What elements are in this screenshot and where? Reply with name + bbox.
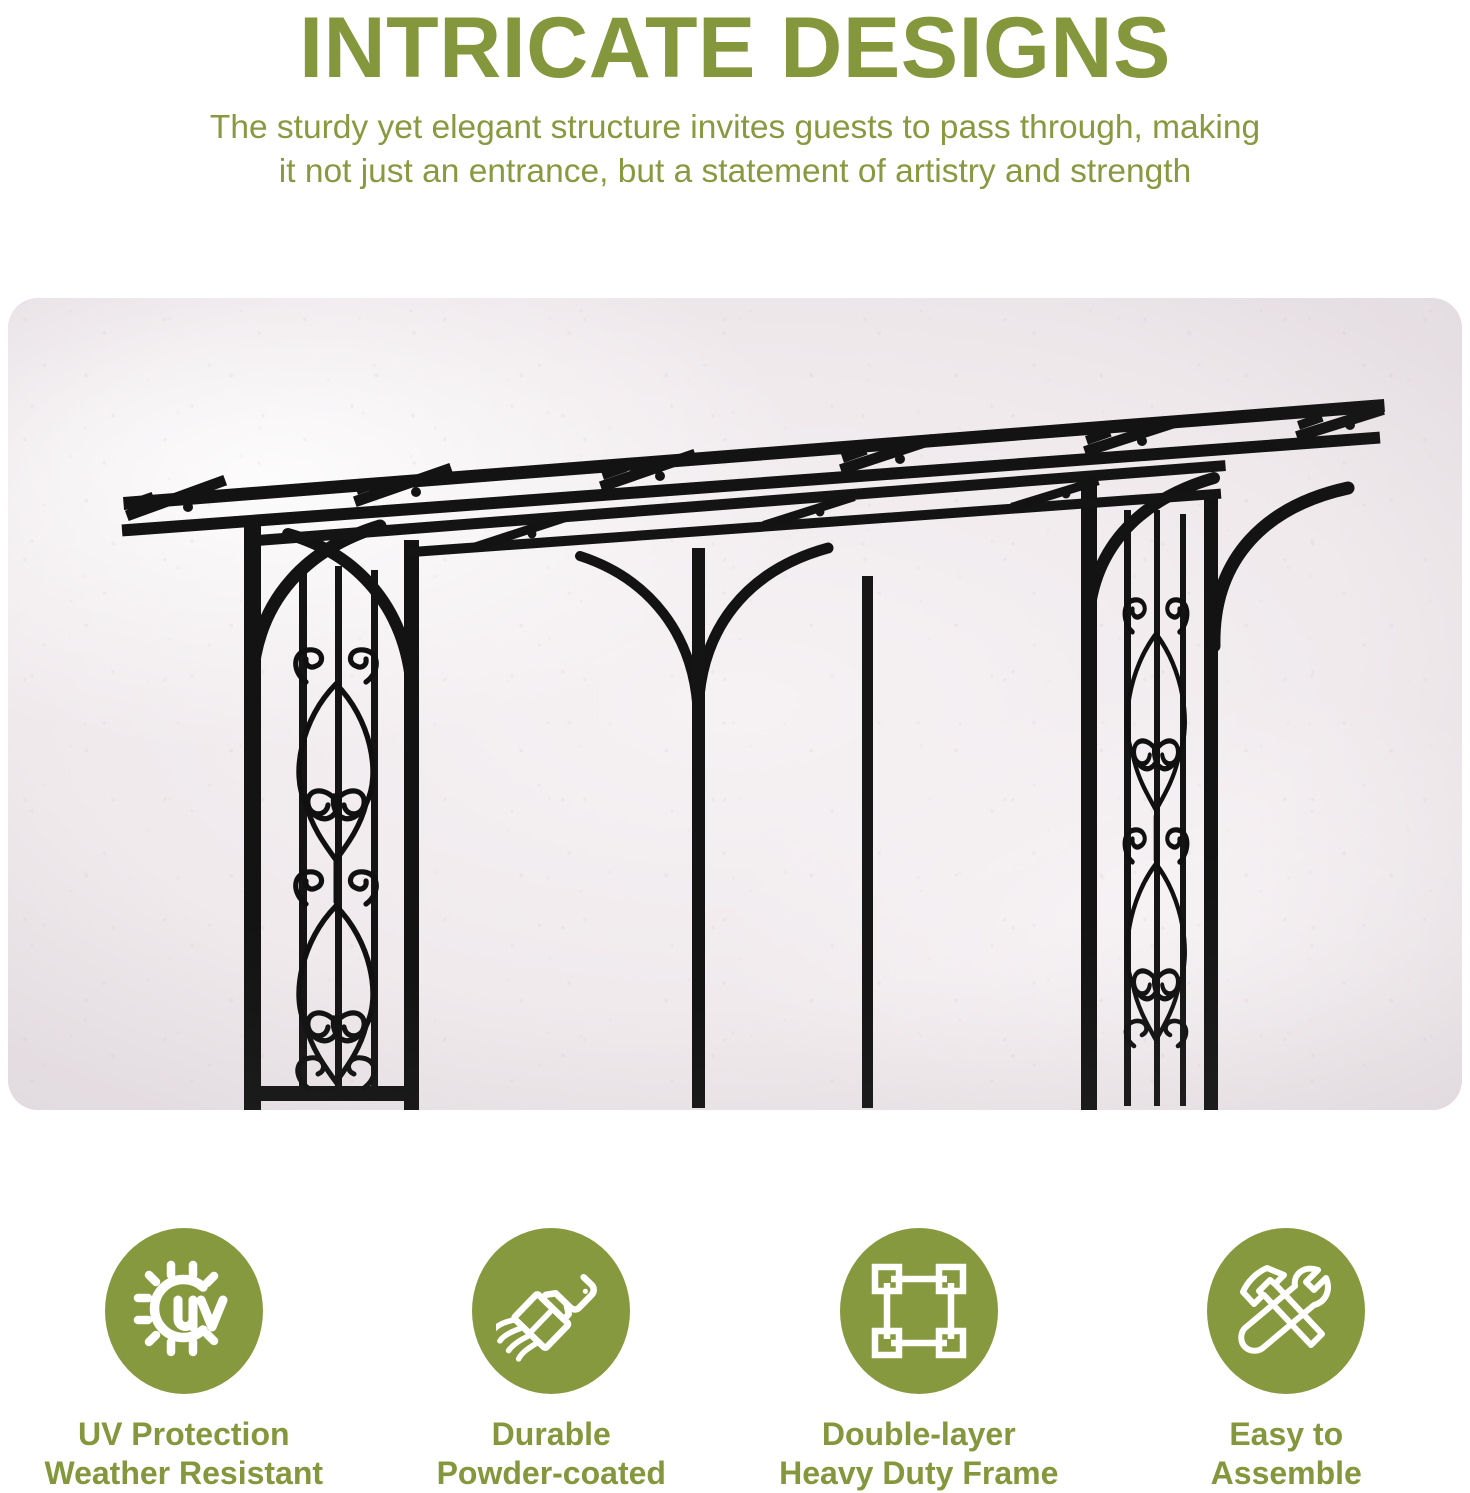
- frame-corners-badge: [840, 1228, 998, 1394]
- feature-item: Double-layer Heavy Duty Frame: [749, 1228, 1089, 1493]
- feature-label-line-1: Double-layer: [779, 1415, 1058, 1454]
- uv-sun-icon: [129, 1256, 239, 1366]
- feature-label: Double-layer Heavy Duty Frame: [779, 1415, 1058, 1493]
- header-block: INTRICATE DESIGNS The sturdy yet elegant…: [0, 0, 1470, 195]
- feature-label-line-1: Durable: [437, 1415, 666, 1454]
- frame-corners-icon: [865, 1257, 973, 1365]
- feature-item: UV Protection Weather Resistant: [14, 1228, 354, 1493]
- feature-label: Easy to Assemble: [1211, 1415, 1362, 1493]
- subtitle-line-2: it not just an entrance, but a statement…: [70, 150, 1400, 194]
- page-title: INTRICATE DESIGNS: [0, 6, 1470, 90]
- feature-item: Easy to Assemble: [1116, 1228, 1456, 1493]
- feature-label-line-2: Powder-coated: [437, 1454, 666, 1493]
- uv-sun-badge: [105, 1228, 263, 1394]
- feature-label: UV Protection Weather Resistant: [44, 1415, 323, 1493]
- feature-item: Durable Powder-coated: [381, 1228, 721, 1493]
- product-photo: [8, 298, 1462, 1110]
- feature-label-line-2: Assemble: [1211, 1454, 1362, 1493]
- feature-label: Durable Powder-coated: [437, 1415, 666, 1493]
- hammer-wrench-badge: [1207, 1228, 1365, 1394]
- paintbrush-badge: [472, 1228, 630, 1394]
- page-subtitle: The sturdy yet elegant structure invites…: [50, 106, 1420, 194]
- feature-label-line-1: UV Protection: [44, 1415, 323, 1454]
- subtitle-line-1: The sturdy yet elegant structure invites…: [70, 106, 1400, 150]
- hammer-wrench-icon: [1230, 1255, 1342, 1367]
- feature-label-line-1: Easy to: [1211, 1415, 1362, 1454]
- feature-label-line-2: Heavy Duty Frame: [779, 1454, 1058, 1493]
- feature-label-line-2: Weather Resistant: [44, 1454, 323, 1493]
- paintbrush-icon: [496, 1256, 606, 1366]
- photo-vignette: [8, 298, 1462, 1110]
- feature-list: UV Protection Weather Resistant: [0, 1228, 1470, 1493]
